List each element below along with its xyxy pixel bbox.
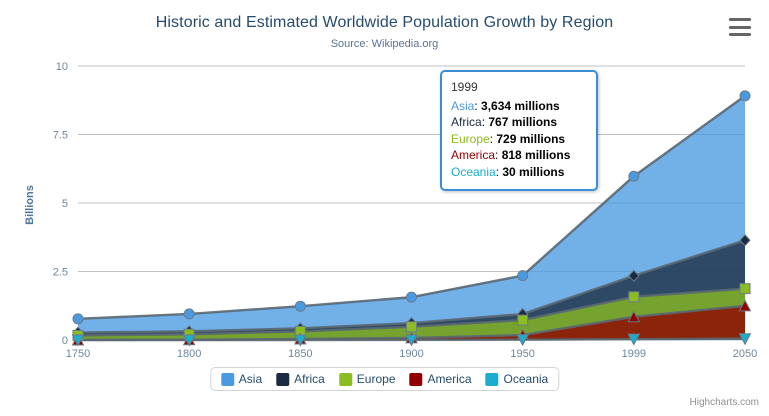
- tooltip-row-africa: Africa: 767 millions: [451, 114, 587, 131]
- data-point-europe-2050[interactable]: [740, 284, 750, 294]
- svg-text:1999: 1999: [622, 348, 646, 360]
- data-point-asia-1999[interactable]: [629, 171, 639, 181]
- legend-swatch-america: [410, 373, 423, 386]
- legend-item-europe[interactable]: Europe: [339, 372, 396, 386]
- legend-label-africa: Africa: [294, 372, 325, 386]
- svg-text:1950: 1950: [510, 348, 534, 360]
- chart-tooltip: 1999 Asia: 3,634 millionsAfrica: 767 mil…: [440, 70, 598, 191]
- tooltip-series-value: 30 millions: [502, 165, 564, 179]
- tooltip-series-value: 3,634 millions: [481, 99, 560, 113]
- svg-text:5: 5: [62, 198, 68, 210]
- legend-swatch-asia: [221, 373, 234, 386]
- y-axis-title: Billions: [24, 185, 36, 225]
- highcharts-container: Historic and Estimated Worldwide Populat…: [0, 0, 769, 416]
- tooltip-row-asia: Asia: 3,634 millions: [451, 98, 587, 115]
- tooltip-series-value: 818 millions: [502, 148, 571, 162]
- plot-area: 02.557.510 1750180018501900195019992050 …: [0, 0, 769, 416]
- tooltip-row-oceania: Oceania: 30 millions: [451, 164, 587, 181]
- svg-text:7.5: 7.5: [53, 130, 68, 142]
- tooltip-series-name: Europe: [451, 132, 490, 146]
- series-areas: [78, 96, 745, 340]
- legend-item-oceania[interactable]: Oceania: [486, 372, 549, 386]
- svg-text:1900: 1900: [399, 348, 423, 360]
- legend-swatch-oceania: [486, 373, 499, 386]
- tooltip-series-name: Oceania: [451, 165, 496, 179]
- tooltip-row-america: America: 818 millions: [451, 147, 587, 164]
- highcharts-credits[interactable]: Highcharts.com: [690, 397, 759, 408]
- legend-item-africa[interactable]: Africa: [276, 372, 325, 386]
- legend-item-america[interactable]: America: [410, 372, 472, 386]
- legend-swatch-africa: [276, 373, 289, 386]
- tooltip-series-name: Asia: [451, 99, 474, 113]
- tooltip-series-value: 729 millions: [496, 132, 565, 146]
- data-point-asia-1950[interactable]: [518, 271, 528, 281]
- tooltip-rows: Asia: 3,634 millionsAfrica: 767 millions…: [451, 98, 587, 181]
- data-point-asia-1750[interactable]: [73, 314, 83, 324]
- legend-swatch-europe: [339, 373, 352, 386]
- svg-text:2.5: 2.5: [53, 267, 68, 279]
- data-point-asia-1900[interactable]: [407, 292, 417, 302]
- svg-text:10: 10: [56, 61, 68, 73]
- tooltip-row-europe: Europe: 729 millions: [451, 131, 587, 148]
- svg-text:1850: 1850: [288, 348, 312, 360]
- data-point-asia-1850[interactable]: [295, 301, 305, 311]
- legend-label-europe: Europe: [357, 372, 396, 386]
- data-point-asia-1800[interactable]: [184, 309, 194, 319]
- svg-text:2050: 2050: [733, 348, 757, 360]
- chart-legend[interactable]: Asia Africa Europe America Oceania: [210, 367, 559, 391]
- tooltip-header: 1999: [451, 79, 587, 96]
- legend-item-asia[interactable]: Asia: [221, 372, 262, 386]
- tooltip-series-value: 767 millions: [488, 115, 557, 129]
- legend-label-america: America: [428, 372, 472, 386]
- data-point-europe-1950[interactable]: [518, 315, 528, 325]
- svg-text:1750: 1750: [66, 348, 90, 360]
- data-point-europe-1900[interactable]: [407, 322, 417, 332]
- data-point-asia-2050[interactable]: [740, 91, 750, 101]
- tooltip-series-name: Africa: [451, 115, 482, 129]
- x-axis-tick-labels: 1750180018501900195019992050: [66, 348, 757, 360]
- svg-text:0: 0: [62, 335, 68, 347]
- data-point-europe-1999[interactable]: [629, 292, 639, 302]
- legend-label-oceania: Oceania: [504, 372, 549, 386]
- svg-text:1800: 1800: [177, 348, 201, 360]
- tooltip-series-name: America: [451, 148, 495, 162]
- y-axis-tick-labels: 02.557.510: [53, 61, 68, 347]
- legend-label-asia: Asia: [239, 372, 262, 386]
